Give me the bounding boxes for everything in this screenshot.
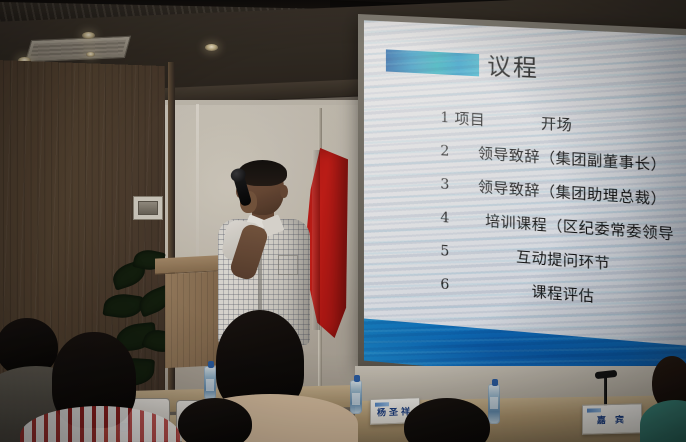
audience-head <box>404 398 490 442</box>
agenda-number: 1 <box>382 106 455 126</box>
name-placard: 嘉 宾 <box>582 403 642 435</box>
projection-screen-frame: 议程 项目 1 开场 2 领导致辞（集团副董事长） 3 <box>358 14 686 397</box>
agenda-slide: 议程 项目 1 开场 2 领导致辞（集团副董事长） 3 <box>364 20 686 390</box>
conference-room-screenshot: 议程 项目 1 开场 2 领导致辞（集团副董事长） 3 <box>0 0 686 442</box>
placard-logo-icon <box>375 402 389 406</box>
agenda-number: 2 <box>382 139 455 160</box>
audience-head <box>178 398 252 442</box>
water-bottle <box>204 366 216 400</box>
agenda-number: 3 <box>382 172 455 193</box>
slide-accent-bar <box>386 49 479 76</box>
wall-outlet-panel <box>133 196 163 220</box>
downlight-icon <box>82 32 95 39</box>
shirt-pocket <box>278 255 298 275</box>
slide-title: 议程 <box>487 46 539 83</box>
placard-text: 嘉 宾 <box>597 412 627 426</box>
projection-screen: 议程 项目 1 开场 2 领导致辞（集团副董事长） 3 <box>364 20 686 390</box>
agenda-number: 6 <box>382 271 455 293</box>
placard-logo-icon <box>587 408 601 412</box>
downlight-icon <box>86 52 95 57</box>
downlight-icon <box>205 44 218 51</box>
presenter-ear <box>280 185 288 198</box>
water-bottle <box>350 380 362 414</box>
agenda-number: 5 <box>382 238 455 260</box>
agenda-number: 4 <box>382 205 455 226</box>
agenda-table: 项目 1 开场 2 领导致辞（集团副董事长） 3 领导致辞（集团助理总裁） <box>382 97 686 321</box>
ceiling-air-vent <box>25 36 131 63</box>
